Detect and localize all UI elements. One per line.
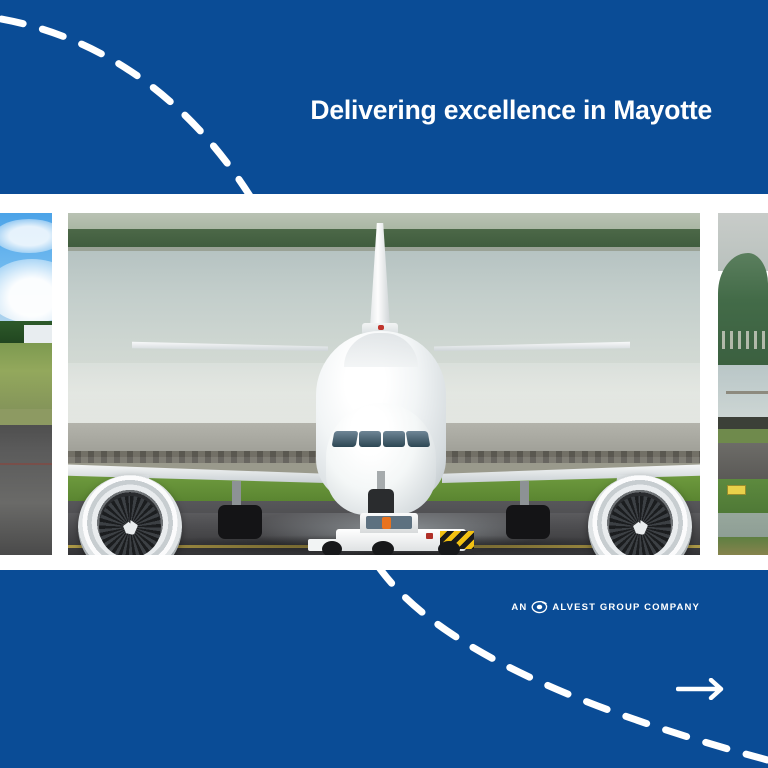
runway-marking bbox=[0, 463, 52, 465]
tug-wheel bbox=[438, 541, 460, 555]
foreground-grass-layer bbox=[718, 537, 768, 555]
jetty-shape bbox=[726, 391, 768, 394]
page-title: Delivering excellence in Mayotte bbox=[0, 94, 712, 126]
beacon-light bbox=[378, 325, 384, 330]
cockpit-window bbox=[359, 431, 381, 447]
pushback-tug bbox=[308, 513, 488, 555]
airport-grass-runway-photo[interactable] bbox=[0, 213, 52, 555]
social-post-card: Delivering excellence in Mayotte bbox=[0, 0, 768, 768]
main-landing-gear-left bbox=[218, 505, 262, 539]
cockpit-window bbox=[332, 431, 359, 447]
main-landing-gear-right bbox=[506, 505, 550, 539]
tug-shadow bbox=[318, 551, 488, 555]
cloud-shape bbox=[0, 219, 52, 253]
runway-layer bbox=[718, 443, 768, 481]
aircraft-pushback-photo[interactable] bbox=[68, 213, 700, 555]
alvest-group-logo: AN ALVEST GROUP COMPANY bbox=[0, 597, 700, 615]
mayotte-lagoon-photo[interactable] bbox=[718, 213, 768, 555]
tug-wheel bbox=[322, 541, 342, 555]
photo-strip bbox=[0, 213, 768, 555]
logo-prefix-text: AN bbox=[511, 602, 527, 613]
tarmac-layer bbox=[0, 425, 52, 555]
cockpit-window bbox=[406, 431, 431, 447]
cockpit-windows bbox=[331, 431, 431, 451]
cloud-shape bbox=[0, 259, 52, 323]
terminal-building-shape bbox=[24, 325, 52, 343]
cockpit-window bbox=[383, 431, 405, 447]
grass-layer bbox=[0, 343, 52, 413]
alvest-swoosh-icon bbox=[531, 601, 548, 614]
tug-tail-light bbox=[426, 533, 433, 539]
yellow-airfield-sign bbox=[727, 485, 746, 495]
hillside-layer bbox=[718, 253, 768, 371]
tug-operator bbox=[382, 517, 391, 529]
arrow-right-icon[interactable] bbox=[676, 678, 728, 700]
tug-wheel bbox=[372, 541, 394, 555]
logo-suffix-text: ALVEST GROUP COMPANY bbox=[552, 602, 700, 613]
hillside-houses bbox=[722, 331, 766, 349]
